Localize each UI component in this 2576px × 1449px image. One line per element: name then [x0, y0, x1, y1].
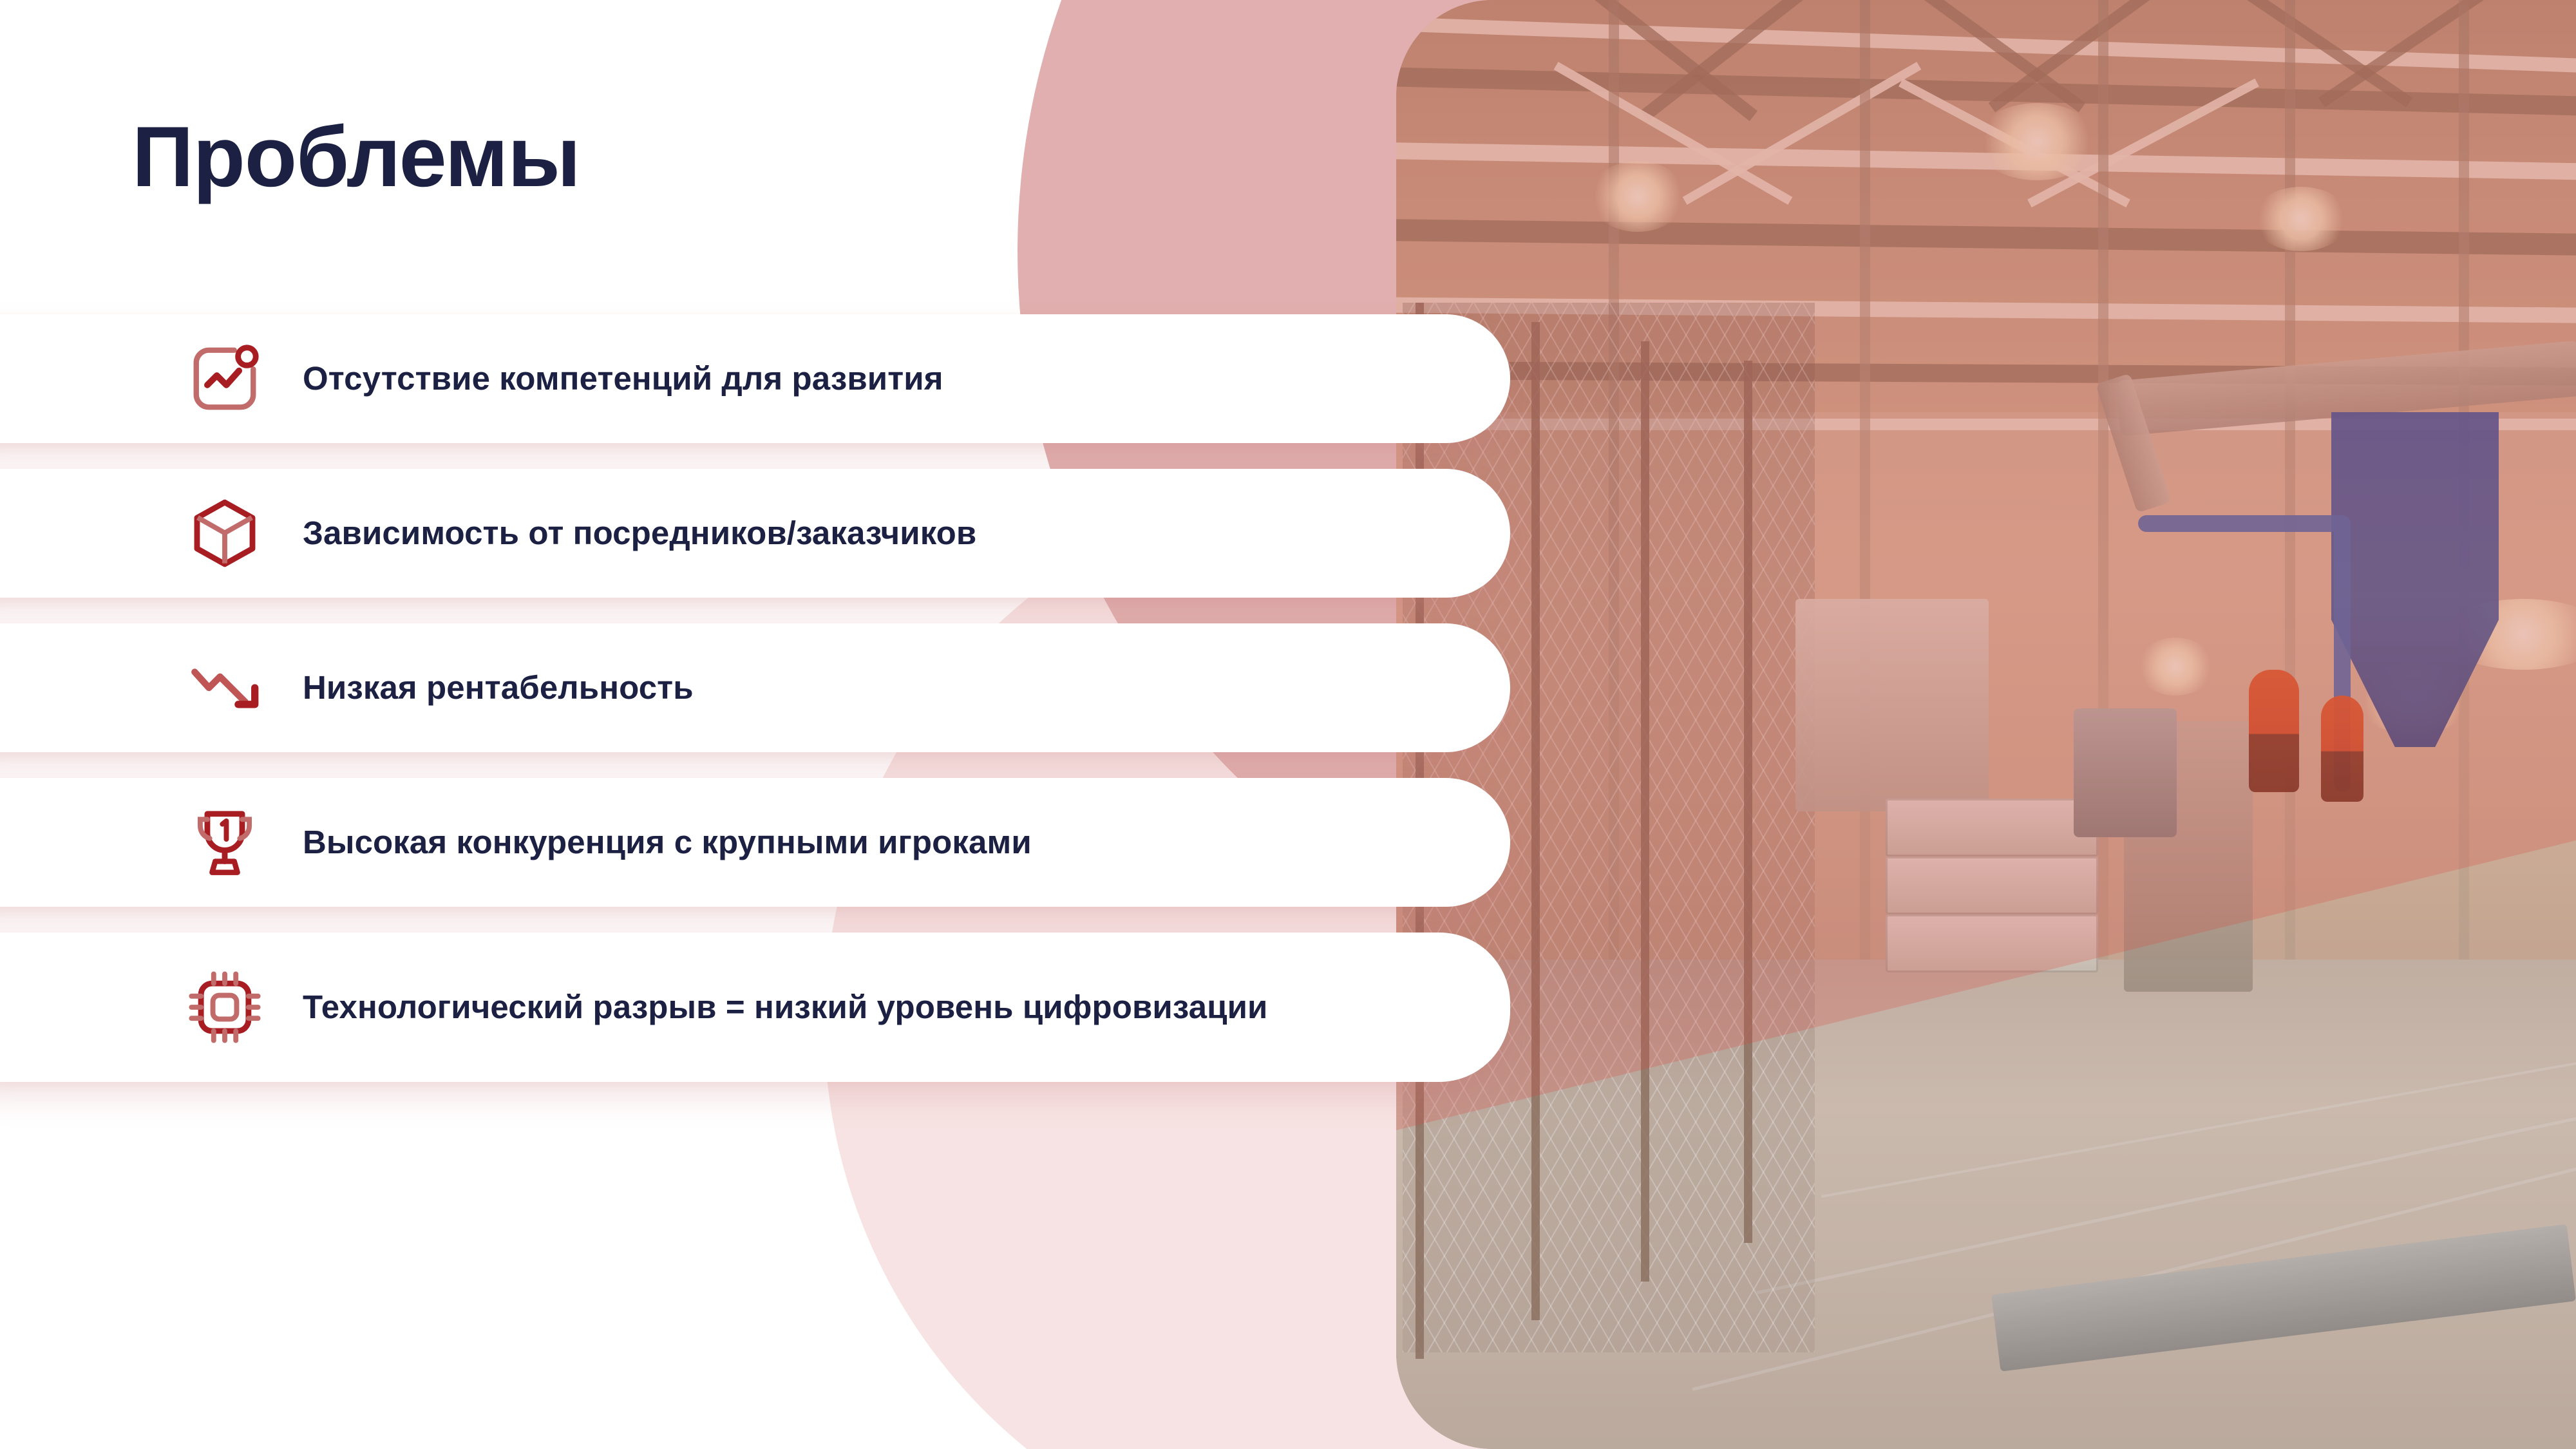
problem-label: Низкая рентабельность [303, 667, 732, 709]
cpu-chip-icon [183, 965, 267, 1049]
problem-card-5[interactable]: Технологический разрыв = низкий уровень … [0, 933, 1510, 1082]
problem-label: Отсутствие компетенций для развития [303, 357, 982, 400]
trend-down-arrow-icon [183, 646, 267, 730]
box-cube-icon [183, 491, 267, 575]
problems-list: Отсутствие компетенций для развития Зави… [0, 314, 1510, 1082]
problem-label: Высокая конкуренция с крупными игроками [303, 821, 1070, 864]
trophy-first-place-icon [183, 800, 267, 884]
slide-root: Проблемы Отсутствие компетенций для разв… [0, 0, 2576, 1449]
problem-label: Технологический разрыв = низкий уровень … [303, 986, 1306, 1028]
problem-label: Зависимость от посредников/заказчиков [303, 512, 1015, 554]
problem-card-4[interactable]: Высокая конкуренция с крупными игроками [0, 778, 1510, 907]
problem-card-1[interactable]: Отсутствие компетенций для развития [0, 314, 1510, 443]
analytics-chart-icon [183, 337, 267, 421]
problem-card-2[interactable]: Зависимость от посредников/заказчиков [0, 469, 1510, 598]
problem-card-3[interactable]: Низкая рентабельность [0, 623, 1510, 752]
page-title: Проблемы [132, 113, 580, 203]
